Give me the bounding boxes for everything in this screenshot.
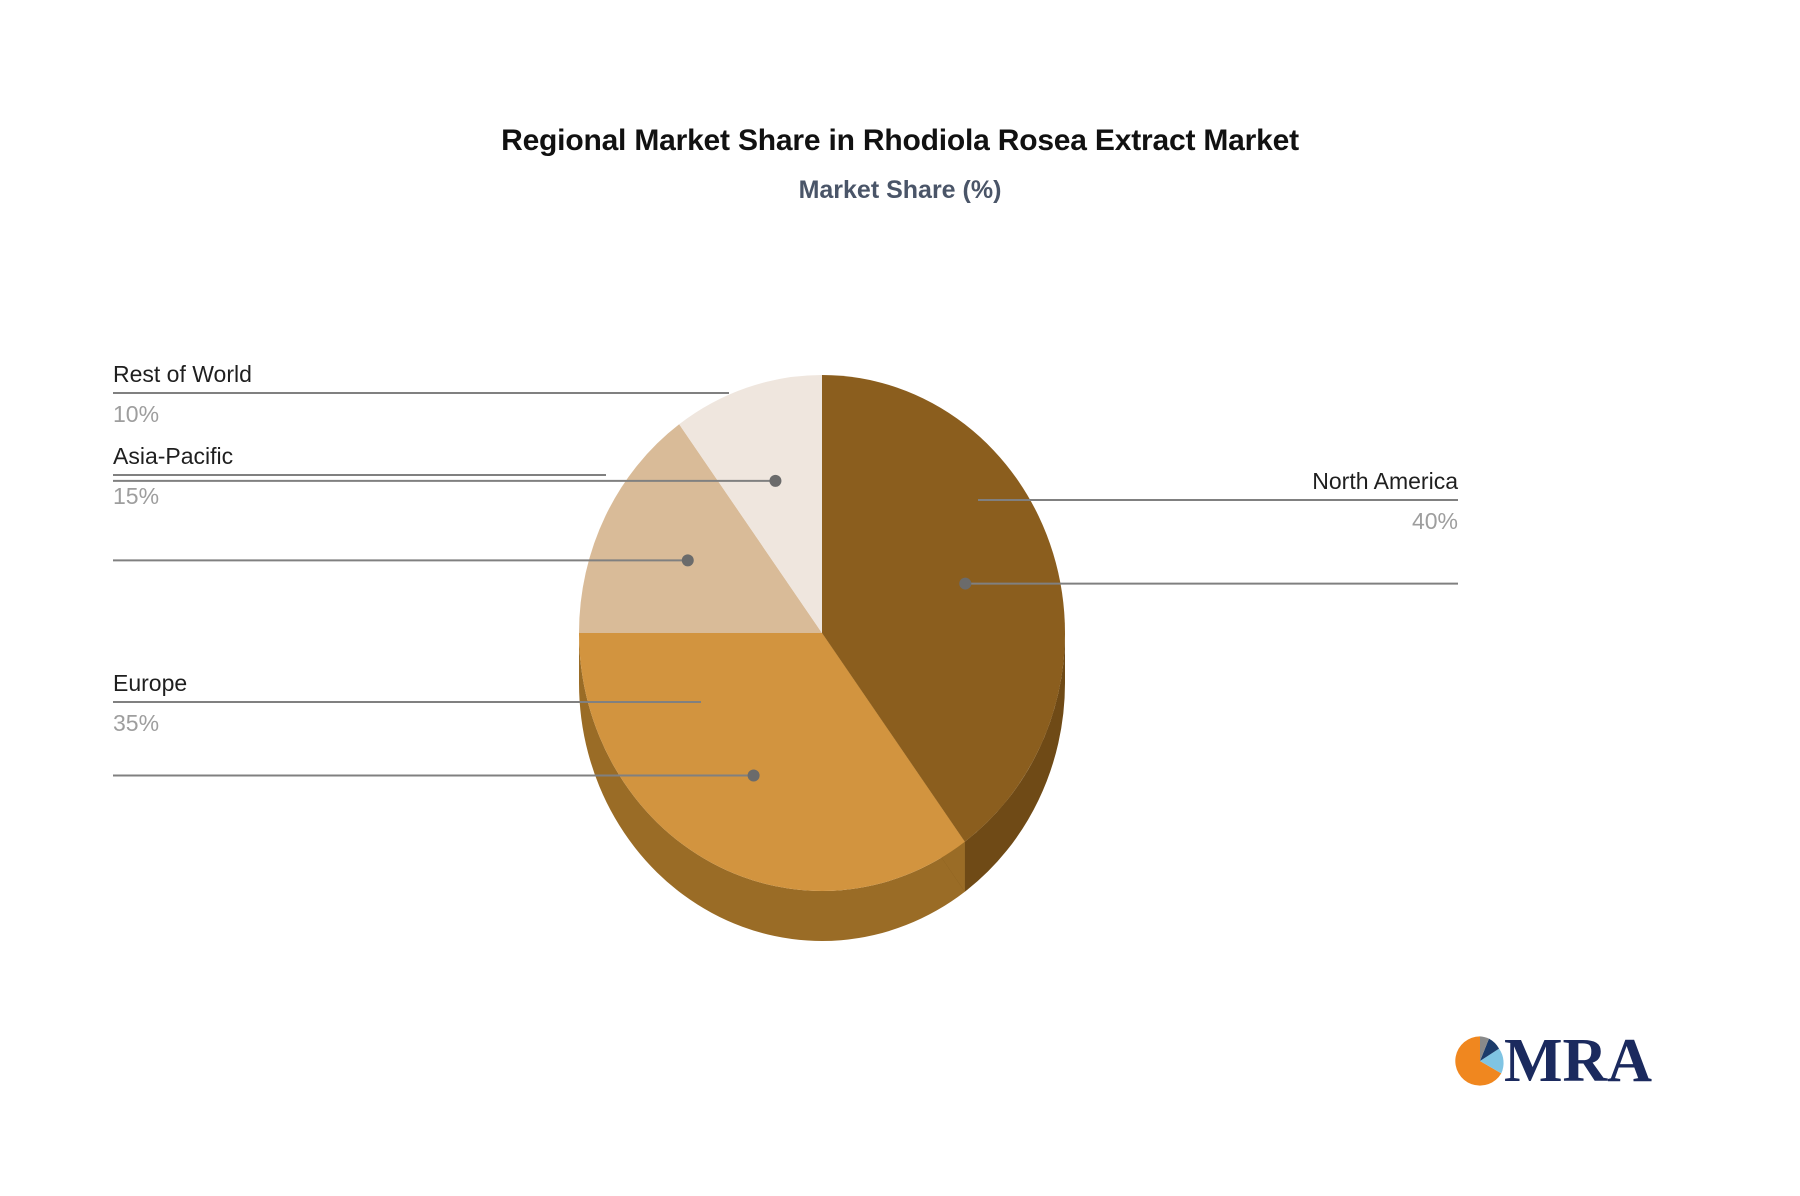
leader-dot xyxy=(682,554,694,566)
callout-north-america: North America 40% xyxy=(978,468,1458,535)
callout-europe-value: 35% xyxy=(113,703,701,736)
callout-north-america-name: North America xyxy=(978,468,1458,499)
callout-asia-pacific-name: Asia-Pacific xyxy=(113,443,606,474)
callout-rest-of-world-name: Rest of World xyxy=(113,361,729,392)
pie-chart-logo-icon xyxy=(1452,1033,1508,1089)
callout-europe-name: Europe xyxy=(113,670,701,701)
callout-europe: Europe 35% xyxy=(113,670,701,737)
leader-dot xyxy=(959,578,971,590)
pie-graphic xyxy=(0,0,1800,1196)
callout-north-america-value: 40% xyxy=(978,501,1458,534)
pie-chart-figure: Regional Market Share in Rhodiola Rosea … xyxy=(0,0,1800,1196)
leader-dot xyxy=(748,770,760,782)
callout-asia-pacific: Asia-Pacific 15% xyxy=(113,443,606,510)
logo-wordmark: MRA xyxy=(1504,1030,1652,1092)
pie-slices xyxy=(579,375,1065,891)
mra-logo: MRA xyxy=(1452,1030,1652,1092)
callout-asia-pacific-value: 15% xyxy=(113,476,606,509)
callout-rest-of-world-value: 10% xyxy=(113,394,729,427)
callout-rest-of-world: Rest of World 10% xyxy=(113,361,729,428)
leader-dot xyxy=(769,475,781,487)
